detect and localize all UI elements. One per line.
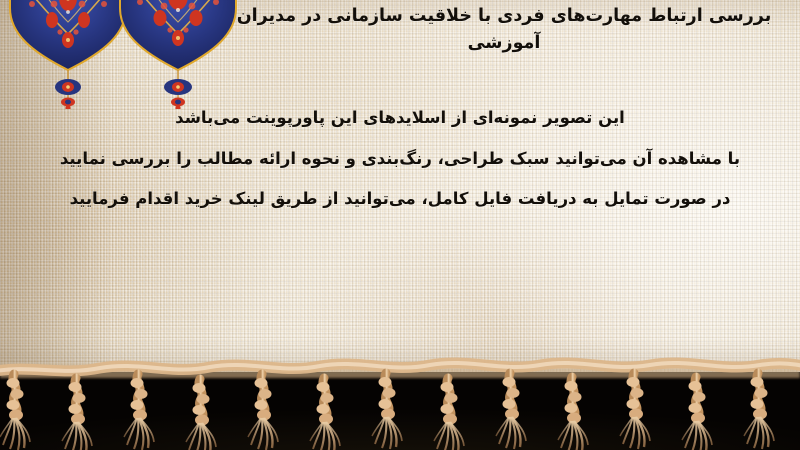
slide-body-line-1: این تصویر نمونه‌ای از اسلایدهای این پاور… [0,110,800,127]
persian-medallion-ornament-left [8,0,128,109]
slide-title: بررسی ارتباط مهارت‌های فردی با خلاقیت سا… [224,3,784,57]
slide-title-line-2: آموزشی [224,30,784,57]
presentation-slide: بررسی ارتباط مهارت‌های فردی با خلاقیت سا… [0,0,800,450]
slide-body-line-3: در صورت تمایل به دریافت فایل کامل، می‌تو… [0,191,800,208]
carpet-tassel-fringe [0,352,800,450]
slide-body-text: این تصویر نمونه‌ای از اسلایدهای این پاور… [0,110,800,232]
ornament-group [0,0,250,104]
slide-title-line-1: بررسی ارتباط مهارت‌های فردی با خلاقیت سا… [224,3,784,30]
slide-body-line-2: با مشاهده آن می‌توانید سبک طراحی، رنگ‌بن… [0,151,800,168]
persian-medallion-ornament-right [118,0,238,109]
